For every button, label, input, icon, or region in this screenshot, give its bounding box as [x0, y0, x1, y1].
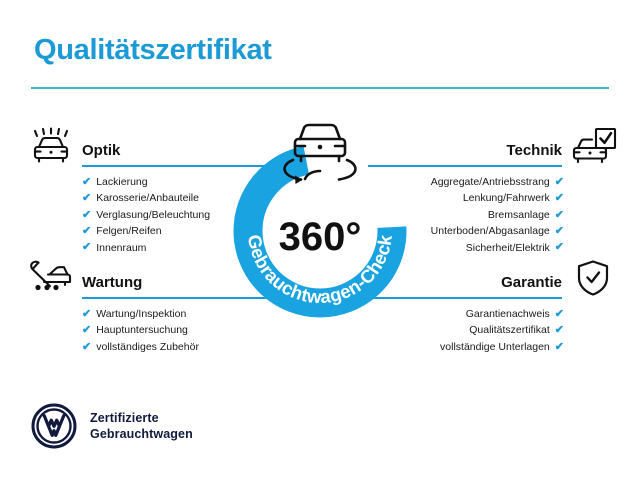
check-icon: ✔ [555, 309, 564, 320]
check-icon: ✔ [82, 342, 91, 353]
list-item: Unterboden/Abgasanlage✔ [390, 223, 620, 239]
list-item: ✔vollständiges Zubehör [20, 339, 250, 355]
list-item: vollständige Unterlagen✔ [390, 339, 620, 355]
check-icon: ✔ [82, 193, 91, 204]
list-item: Garantienachweis✔ [390, 306, 620, 322]
section-optik: Optik ✔Lackierung ✔Karosserie/Anbauteile… [20, 126, 250, 256]
check-icon: ✔ [82, 309, 91, 320]
check-icon: ✔ [555, 210, 564, 221]
list-item: Qualitätszertifikat✔ [390, 322, 620, 338]
list-item: ✔Innenraum [20, 240, 250, 256]
list-item: Aggregate/Antriebsstrang✔ [390, 174, 620, 190]
check-icon: ✔ [555, 226, 564, 237]
section-wartung-title: Wartung [82, 274, 142, 291]
section-wartung-header: Wartung [20, 258, 250, 300]
check-icon: ✔ [82, 177, 91, 188]
badge-360-check: 360° Gebrauchtwagen-Check [225, 113, 415, 325]
wrench-car-icon [26, 258, 76, 298]
check-icon: ✔ [82, 242, 91, 253]
section-optik-list: ✔Lackierung ✔Karosserie/Anbauteile ✔Verg… [20, 174, 250, 256]
badge-center-label: 360° [279, 215, 362, 259]
footer-line-2: Gebrauchtwagen [90, 426, 193, 442]
check-icon: ✔ [82, 226, 91, 237]
check-icon: ✔ [555, 193, 564, 204]
shield-check-icon [568, 258, 618, 298]
page-title: Qualitätszertifikat [34, 34, 272, 67]
check-icon: ✔ [555, 177, 564, 188]
title-divider [31, 87, 609, 89]
section-garantie-list: Garantienachweis✔ Qualitätszertifikat✔ v… [390, 306, 620, 355]
car-checkbox-icon [568, 126, 618, 166]
section-technik-list: Aggregate/Antriebsstrang✔ Lenkung/Fahrwe… [390, 174, 620, 256]
section-technik-title: Technik [506, 142, 562, 159]
section-technik-header: Technik [390, 126, 620, 168]
list-item: ✔Hauptuntersuchung [20, 322, 250, 338]
footer-logo: Zertifizierte Gebrauchtwagen [31, 403, 193, 449]
section-optik-header: Optik [20, 126, 250, 168]
volkswagen-logo [31, 403, 77, 449]
section-garantie-header: Garantie [390, 258, 620, 300]
car-shine-icon [26, 126, 76, 166]
list-item: ✔Lackierung [20, 174, 250, 190]
section-garantie-title: Garantie [501, 274, 562, 291]
list-item: ✔Verglasung/Beleuchtung [20, 207, 250, 223]
section-wartung: Wartung ✔Wartung/Inspektion ✔Hauptunters… [20, 258, 250, 355]
check-icon: ✔ [555, 242, 564, 253]
check-icon: ✔ [555, 342, 564, 353]
list-item: Bremsanlage✔ [390, 207, 620, 223]
section-wartung-list: ✔Wartung/Inspektion ✔Hauptuntersuchung ✔… [20, 306, 250, 355]
list-item: Lenkung/Fahrwerk✔ [390, 190, 620, 206]
footer-line-1: Zertifizierte [90, 410, 193, 426]
section-garantie: Garantie Garantienachweis✔ Qualitätszert… [390, 258, 620, 355]
section-technik: Technik Aggregate/Antriebsstrang✔ Lenkun… [390, 126, 620, 256]
footer-logo-text: Zertifizierte Gebrauchtwagen [90, 410, 193, 442]
list-item: Sicherheit/Elektrik✔ [390, 240, 620, 256]
list-item: ✔Karosserie/Anbauteile [20, 190, 250, 206]
check-icon: ✔ [555, 325, 564, 336]
list-item: ✔Wartung/Inspektion [20, 306, 250, 322]
section-optik-title: Optik [82, 142, 120, 159]
list-item: ✔Felgen/Reifen [20, 223, 250, 239]
check-icon: ✔ [82, 210, 91, 221]
check-icon: ✔ [82, 325, 91, 336]
